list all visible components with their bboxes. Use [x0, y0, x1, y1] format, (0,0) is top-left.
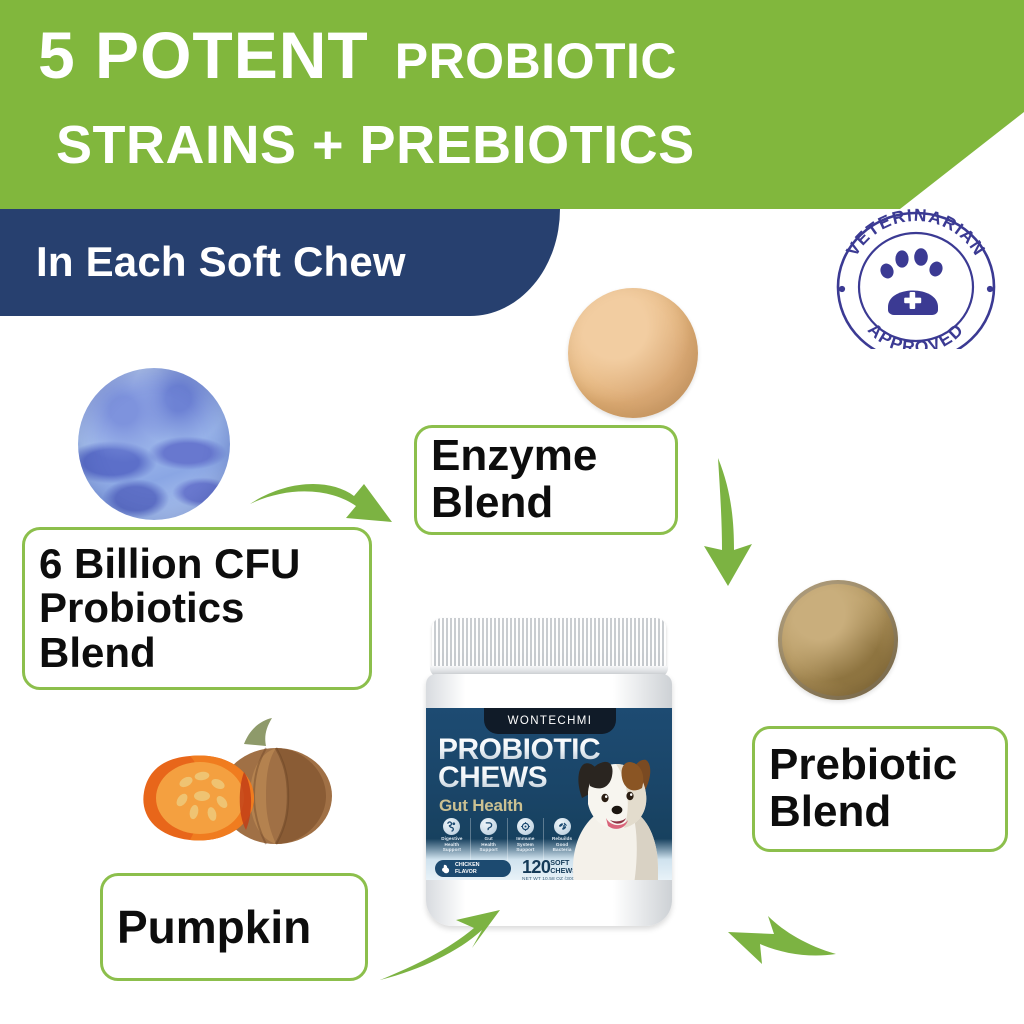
brand-band: WONTECHMI [484, 708, 616, 734]
flavor-label: CHICKENFLAVOR [455, 862, 480, 875]
chew-count-number: 120 [522, 858, 550, 876]
brand-name: WONTECHMI [508, 715, 593, 727]
callout-cfu[interactable]: 6 Billion CFU Probiotics Blend [22, 527, 372, 690]
pumpkin-svg [126, 714, 346, 854]
benefit-digestive-label: DigestiveHealthSupport [441, 836, 462, 853]
border-collie-dog-photo [560, 748, 672, 880]
product-jar: WONTECHMI PROBIOTIC CHEWS Gut Health Dig… [424, 618, 674, 928]
jar-label: WONTECHMI PROBIOTIC CHEWS Gut Health Dig… [426, 708, 672, 880]
callout-pumpkin-text: Pumpkin [117, 903, 311, 952]
callout-enzyme-line-1: Blend [431, 480, 597, 527]
jar-body: WONTECHMI PROBIOTIC CHEWS Gut Health Dig… [426, 674, 672, 926]
veterinarian-approved-badge: VETERINARIAN APPROVED [826, 203, 1006, 349]
callout-enzyme-text: Enzyme Blend [431, 433, 597, 526]
infographic-canvas: 5 POTENTPROBIOTIC STRAINS + PREBIOTICS I… [0, 0, 1024, 1024]
callout-cfu-text: 6 Billion CFU Probiotics Blend [39, 542, 300, 676]
product-subtitle: Gut Health [439, 796, 523, 816]
callout-prebiotic[interactable]: Prebiotic Blend [752, 726, 1008, 852]
callout-cfu-line-0: 6 Billion CFU [39, 542, 300, 587]
callout-prebiotic-line-1: Blend [769, 789, 957, 836]
callout-pumpkin-line-0: Pumpkin [117, 903, 311, 952]
callout-prebiotic-line-0: Prebiotic [769, 742, 957, 789]
pumpkin-photo [126, 714, 346, 854]
shield-cell-icon [517, 818, 534, 835]
flavor-badge: CHICKENFLAVOR [435, 860, 511, 877]
callout-prebiotic-text: Prebiotic Blend [769, 742, 957, 835]
arrow-prebiotic-to-jar [688, 888, 838, 972]
callout-pumpkin[interactable]: Pumpkin [100, 873, 368, 981]
headline-potent-text: 5 POTENT [38, 18, 369, 92]
intestine-icon [443, 818, 460, 835]
benefit-gut-label: GutHealthSupport [479, 836, 497, 853]
chicken-icon [440, 863, 452, 875]
product-title-line2: CHEWS [438, 764, 547, 792]
arrow-pumpkin-to-jar [378, 898, 514, 984]
callout-enzyme-line-0: Enzyme [431, 433, 597, 480]
bacteria-microscopy-circle [78, 368, 230, 520]
vet-badge-svg: VETERINARIAN APPROVED [826, 203, 1006, 349]
callout-cfu-line-1: Probiotics [39, 586, 300, 631]
enzyme-powder-circle [568, 288, 698, 418]
stomach-icon [480, 818, 497, 835]
prebiotic-powder-dish [778, 580, 898, 700]
headline-probiotic-text: PROBIOTIC [395, 33, 677, 89]
jar-cap [432, 618, 666, 670]
arrow-enzyme-to-prebiotic [684, 450, 794, 592]
benefit-immune-label: ImmuneSystemSupport [516, 836, 534, 853]
subbanner-label: In Each Soft Chew [36, 238, 406, 286]
headline-primary: 5 POTENTPROBIOTIC [0, 22, 960, 88]
callout-enzyme[interactable]: Enzyme Blend [414, 425, 678, 535]
headline-secondary: STRAINS + PREBIOTICS [0, 118, 1000, 172]
callout-cfu-line-2: Blend [39, 631, 300, 676]
